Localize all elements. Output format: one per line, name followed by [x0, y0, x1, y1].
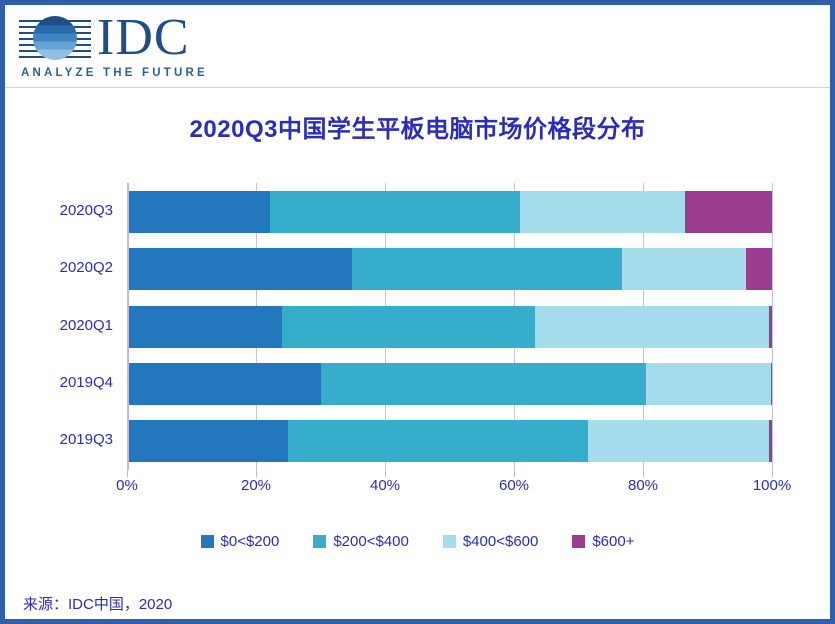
- bar-segment[interactable]: [769, 306, 772, 348]
- bar-segment[interactable]: [622, 248, 746, 290]
- x-axis-tick: [256, 470, 257, 477]
- y-axis-line: [127, 183, 129, 470]
- x-axis-label: 100%: [753, 477, 791, 494]
- bar-row[interactable]: [127, 363, 772, 405]
- bar-row[interactable]: [127, 248, 772, 290]
- bar-segment[interactable]: [685, 191, 772, 233]
- legend-item[interactable]: $200<$400: [313, 533, 409, 550]
- bar-segment[interactable]: [127, 420, 288, 462]
- legend-swatch-icon: [201, 535, 214, 548]
- x-axis-tick: [514, 470, 515, 477]
- bar-segment[interactable]: [535, 306, 769, 348]
- y-axis-label: 2020Q2: [5, 259, 113, 276]
- x-axis-tick: [385, 470, 386, 477]
- legend-label: $400<$600: [463, 533, 539, 550]
- bar-row[interactable]: [127, 420, 772, 462]
- brand-tagline: ANALYZE THE FUTURE: [21, 67, 208, 79]
- bar-segment[interactable]: [127, 363, 321, 405]
- legend-swatch-icon: [313, 535, 326, 548]
- bar-segment[interactable]: [588, 420, 769, 462]
- bar-segment[interactable]: [288, 420, 588, 462]
- y-axis-label: 2019Q4: [5, 374, 113, 391]
- legend-label: $0<$200: [221, 533, 280, 550]
- bar-segment[interactable]: [769, 420, 772, 462]
- logo-globe-shape: [33, 16, 77, 60]
- bar-segment[interactable]: [127, 306, 282, 348]
- legend-item[interactable]: $600+: [572, 533, 634, 550]
- gridline: [772, 183, 773, 470]
- chart-page: IDC ANALYZE THE FUTURE 2020Q3中国学生平板电脑市场价…: [0, 0, 835, 624]
- y-axis-label: 2020Q1: [5, 317, 113, 334]
- bar-segment[interactable]: [282, 306, 535, 348]
- x-axis-label: 40%: [370, 477, 400, 494]
- x-axis-tick: [127, 470, 128, 477]
- bar-segment[interactable]: [520, 191, 685, 233]
- x-axis-label: 20%: [241, 477, 271, 494]
- legend-label: $200<$400: [333, 533, 409, 550]
- chart-container: 0%20%40%60%80%100%2020Q32020Q22020Q12019…: [5, 175, 830, 515]
- page-title: 2020Q3中国学生平板电脑市场价格段分布: [5, 109, 830, 144]
- legend-item[interactable]: $400<$600: [443, 533, 539, 550]
- legend-swatch-icon: [443, 535, 456, 548]
- bar-segment[interactable]: [746, 248, 772, 290]
- x-axis-tick: [772, 470, 773, 477]
- legend-label: $600+: [592, 533, 634, 550]
- bar-segment[interactable]: [321, 363, 647, 405]
- idc-logo: IDC: [19, 13, 190, 69]
- x-axis-label: 0%: [116, 477, 138, 494]
- bar-segment[interactable]: [771, 363, 772, 405]
- legend-swatch-icon: [572, 535, 585, 548]
- source-note: 来源：IDC中国，2020: [23, 593, 172, 614]
- y-axis-label: 2019Q3: [5, 431, 113, 448]
- y-axis-label: 2020Q3: [5, 202, 113, 219]
- bar-segment[interactable]: [646, 363, 770, 405]
- idc-globe-icon: [19, 13, 91, 69]
- header-bar: IDC ANALYZE THE FUTURE: [5, 5, 830, 88]
- brand-name: IDC: [97, 13, 190, 63]
- x-axis-label: 60%: [499, 477, 529, 494]
- legend-item[interactable]: $0<$200: [201, 533, 280, 550]
- bar-row[interactable]: [127, 306, 772, 348]
- bar-segment[interactable]: [270, 191, 520, 233]
- x-axis-label: 80%: [628, 477, 658, 494]
- chart-legend: $0<$200$200<$400$400<$600$600+: [5, 533, 830, 550]
- bar-segment[interactable]: [352, 248, 622, 290]
- x-axis-tick: [643, 470, 644, 477]
- plot-area: [127, 183, 772, 470]
- bar-segment[interactable]: [127, 248, 352, 290]
- bar-segment[interactable]: [127, 191, 270, 233]
- bar-row[interactable]: [127, 191, 772, 233]
